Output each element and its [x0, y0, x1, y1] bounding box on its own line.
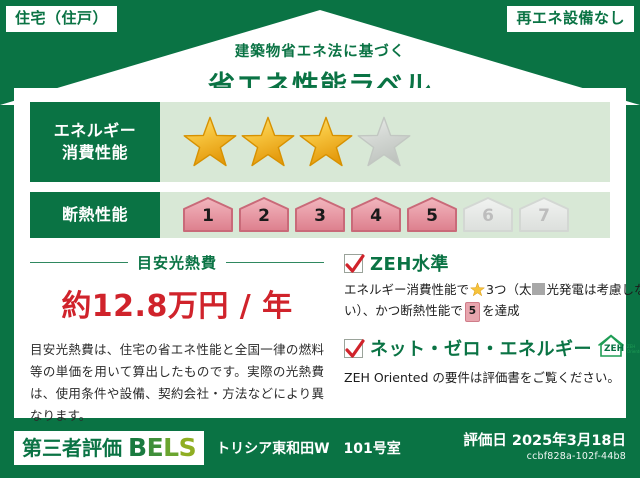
evaluation-info: 評価日 2025年3月18日 ccbf828a-102f-44b8 — [463, 433, 626, 464]
bels-badge-jp-text: 第三者評価 — [22, 438, 122, 458]
energy-label-line2: 消費性能 — [62, 142, 128, 164]
label-footer: 第三者評価 BELS トリシア東和田W 101号室 評価日 2025年3月18日… — [0, 418, 640, 478]
star-filled-icon — [182, 114, 238, 170]
heading-rule-left — [30, 262, 128, 264]
energy-performance-row: エネルギー 消費性能 — [30, 88, 610, 182]
insulation-level-4: 4 — [350, 196, 402, 234]
bels-badge-en-text: BELS — [128, 435, 196, 460]
check-icon — [343, 336, 367, 362]
insulation-level-7-number: 7 — [538, 208, 550, 234]
insulation-level-6: 6 — [462, 196, 514, 234]
net-zero-energy-body: ZEH Oriented の要件は評価書をご覧ください。 — [344, 367, 640, 388]
insulation-level-1-number: 1 — [202, 208, 214, 234]
insulation-performance-label: 断熱性能 — [30, 192, 160, 238]
utility-cost-column: 目安光熱費 約12.8万円 / 年 目安光熱費は、住宅の省エネ性能と全国一律の燃… — [30, 250, 330, 420]
svg-text:Oriented: Oriented — [627, 349, 640, 354]
evaluation-date: 評価日 2025年3月18日 — [463, 433, 626, 450]
zeh-column: ZEH水準 エネルギー消費性能で3つ（太光発電は考慮しない）、かつ断熱性能で5を… — [342, 250, 640, 420]
inline-star-icon — [470, 282, 485, 297]
heading-rule-right — [226, 262, 324, 264]
insulation-level-3: 3 — [294, 196, 346, 234]
insulation-chip-5: 5 — [465, 302, 480, 322]
insulation-level-1: 1 — [182, 196, 234, 234]
insulation-level-scale: 1 2 3 — [182, 196, 570, 234]
insulation-level-2-number: 2 — [258, 208, 270, 234]
star-filled-icon — [240, 114, 296, 170]
utility-cost-heading: 目安光熱費 — [30, 252, 324, 273]
net-zero-energy-body-line2: さい。 — [582, 370, 620, 385]
zeh-standard-checkbox[interactable] — [344, 254, 363, 273]
svg-text:ZEH: ZEH — [604, 344, 624, 354]
zeh-standard-item: ZEH水準 エネルギー消費性能で3つ（太光発電は考慮しない）、かつ断熱性能で5を… — [344, 250, 640, 322]
star-rating — [182, 114, 412, 170]
zeh-standard-body: エネルギー消費性能で3つ（太光発電は考慮しない）、かつ断熱性能で5を達成 — [344, 279, 640, 322]
label-card: エネルギー 消費性能 — [14, 88, 626, 418]
lower-section: 目安光熱費 約12.8万円 / 年 目安光熱費は、住宅の省エネ性能と全国一律の燃… — [30, 250, 610, 420]
utility-cost-note-line1: 目安光熱費は、住宅の省エネ性能と全国一律の燃料 — [30, 342, 324, 357]
bels-badge: 第三者評価 BELS — [14, 431, 204, 465]
zeh-standard-body-a: エネルギー消費性能で — [344, 282, 469, 297]
redaction-block — [532, 283, 545, 295]
insulation-level-6-number: 6 — [482, 208, 494, 234]
energy-performance-value — [160, 102, 610, 182]
zeh-oriented-logo-icon: ZEH ZEH Oriented — [597, 332, 640, 364]
evaluation-id: ccbf828a-102f-44b8 — [463, 450, 626, 463]
insulation-level-5: 5 — [406, 196, 458, 234]
tag-renewable-equipment: 再エネ設備なし — [507, 6, 634, 32]
net-zero-energy-body-line1: ZEH Oriented の要件は評価書をご覧くだ — [344, 370, 582, 385]
energy-label-line1: エネルギー — [54, 120, 137, 142]
insulation-level-4-number: 4 — [370, 208, 382, 234]
bels-energy-label: 住宅（住戸） 再エネ設備なし 建築物省エネ法に基づく 省エネ性能ラベル エネルギ… — [0, 0, 640, 478]
property-name: トリシア東和田W 101号室 — [216, 438, 401, 458]
energy-performance-label: エネルギー 消費性能 — [30, 102, 160, 182]
star-empty-icon — [356, 114, 412, 170]
zeh-standard-body-e: を達成 — [482, 303, 520, 318]
insulation-performance-value: 1 2 3 — [160, 192, 610, 238]
insulation-level-2: 2 — [238, 196, 290, 234]
zeh-standard-title: ZEH水準 — [370, 250, 449, 276]
insulation-level-7: 7 — [518, 196, 570, 234]
zeh-standard-body-b: 3つ（太 — [486, 282, 531, 297]
utility-cost-note: 目安光熱費は、住宅の省エネ性能と全国一律の燃料等の単価を用いて算出したものです。… — [30, 339, 324, 427]
star-filled-icon — [298, 114, 354, 170]
check-icon — [343, 251, 367, 277]
net-zero-energy-header: ネット・ゼロ・エネルギー ZEH ZEH Oriented — [344, 332, 640, 364]
insulation-performance-row: 断熱性能 1 — [30, 182, 610, 238]
net-zero-energy-title: ネット・ゼロ・エネルギー — [370, 335, 592, 361]
insulation-level-5-number: 5 — [426, 208, 438, 234]
tag-building-type: 住宅（住戸） — [6, 6, 117, 32]
utility-cost-heading-text: 目安光熱費 — [128, 252, 226, 273]
zeh-standard-header: ZEH水準 — [344, 250, 640, 276]
insulation-level-3-number: 3 — [314, 208, 326, 234]
net-zero-energy-checkbox[interactable] — [344, 339, 363, 358]
zeh-standard-body-c: 光発電 — [546, 282, 584, 297]
net-zero-energy-item: ネット・ゼロ・エネルギー ZEH ZEH Oriented — [344, 332, 640, 388]
utility-cost-value: 約12.8万円 / 年 — [30, 281, 324, 325]
insulation-label-text: 断熱性能 — [62, 204, 128, 226]
